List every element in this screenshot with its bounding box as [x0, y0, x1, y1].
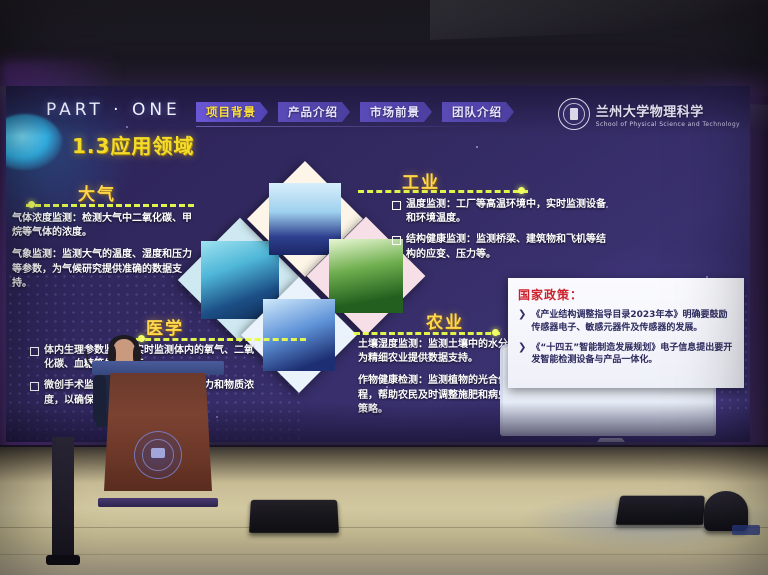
industry-bullet-1: 温度监测：工厂等高温环境中，实时监测设备和环境温度。: [392, 198, 608, 226]
screenshot-root: PART · ONE 1.3应用领域 项目背景 产品介绍 市场前景 团队介绍 兰…: [0, 0, 768, 575]
dash-dot-agriculture: [492, 329, 499, 336]
policy-card: 国家政策： ❯ 《产业结构调整指导目录2023年本》明确要鼓励传感器电子、敏感元…: [508, 278, 744, 388]
chevron-right-icon: ❯: [518, 309, 526, 335]
podium: [100, 361, 216, 501]
checkbox-square-icon: [392, 201, 401, 210]
atmosphere-text-block: 气体浓度监测：检测大气中二氧化碳、甲烷等气体的浓度。 气象监测：监测大气的温度、…: [12, 212, 200, 291]
tab-product-intro[interactable]: 产品介绍: [278, 102, 350, 122]
dash-dot-industry: [518, 187, 525, 194]
industry-item-1: 温度监测：工厂等高温环境中，实时监测设备和环境温度。: [406, 198, 608, 226]
policy-item-2: 《“十四五”智能制造发展规划》电子信息提出要开发智能检测设备与产品一体化。: [531, 342, 734, 368]
tab-project-background[interactable]: 项目背景: [196, 102, 268, 122]
policy-title: 国家政策：: [518, 286, 734, 303]
industry-text-block: 温度监测：工厂等高温环境中，实时监测设备和环境温度。 结构健康监测：监测桥梁、建…: [392, 198, 608, 269]
section-heading-medicine: 医学: [146, 314, 184, 339]
dash-dot-atmosphere: [28, 201, 35, 208]
podium-emblem-icon: [134, 431, 182, 479]
tab-underline: [196, 126, 496, 127]
chevron-right-icon: ❯: [518, 342, 526, 368]
part-label: PART · ONE: [46, 100, 181, 120]
atmosphere-item-2: 气象监测：监测大气的温度、湿度和压力等参数，为气候研究提供准确的数据支持。: [12, 248, 200, 291]
presenter-lower-body: [52, 437, 74, 557]
policy-item-1: 《产业结构调整指导目录2023年本》明确要鼓励传感器电子、敏感元器件及传感器的发…: [531, 309, 734, 335]
tab-market-outlook[interactable]: 市场前景: [360, 102, 432, 122]
section-heading-agriculture: 农业: [426, 308, 464, 333]
industry-item-2: 结构健康监测：监测桥梁、建筑物和飞机等结构的应变、压力等。: [406, 233, 608, 261]
podium-body: [104, 373, 212, 491]
dash-line-industry: [358, 190, 528, 193]
university-logo: 兰州大学物理科学 School of Physical Science and …: [558, 98, 740, 130]
section-heading-atmosphere: 大气: [78, 180, 116, 205]
podium-top-surface: [92, 361, 224, 375]
policy-bullet-1: ❯ 《产业结构调整指导目录2023年本》明确要鼓励传感器电子、敏感元器件及传感器…: [518, 309, 734, 335]
university-seal-icon: [558, 98, 590, 130]
photo-medical-image: [263, 299, 335, 371]
blue-equipment-light: [732, 525, 760, 535]
stage-monitor-speaker-1: [249, 500, 339, 533]
section-heading-industry: 工业: [402, 168, 440, 193]
slide-title: 1.3应用领域: [72, 130, 194, 159]
policy-bullet-2: ❯ 《“十四五”智能制造发展规划》电子信息提出要开发智能检测设备与产品一体化。: [518, 342, 734, 368]
university-name: 兰州大学物理科学: [596, 105, 704, 120]
stage-monitor-speaker-2: [616, 496, 705, 525]
checkbox-square-icon: [30, 382, 39, 391]
university-subtitle: School of Physical Science and Technolog…: [596, 121, 740, 128]
checkbox-square-icon: [392, 236, 401, 245]
tab-team-intro[interactable]: 团队介绍: [442, 102, 514, 122]
atmosphere-item-1: 气体浓度监测：检测大气中二氧化碳、甲烷等气体的浓度。: [12, 212, 200, 240]
industry-bullet-2: 结构健康监测：监测桥梁、建筑物和飞机等结构的应变、压力等。: [392, 233, 608, 261]
slide-tabs: 项目背景 产品介绍 市场前景 团队介绍: [196, 102, 514, 122]
floor-seam-2: [0, 554, 768, 555]
presenter-shoe: [46, 555, 80, 565]
checkbox-square-icon: [30, 347, 39, 356]
podium-base: [98, 498, 218, 507]
